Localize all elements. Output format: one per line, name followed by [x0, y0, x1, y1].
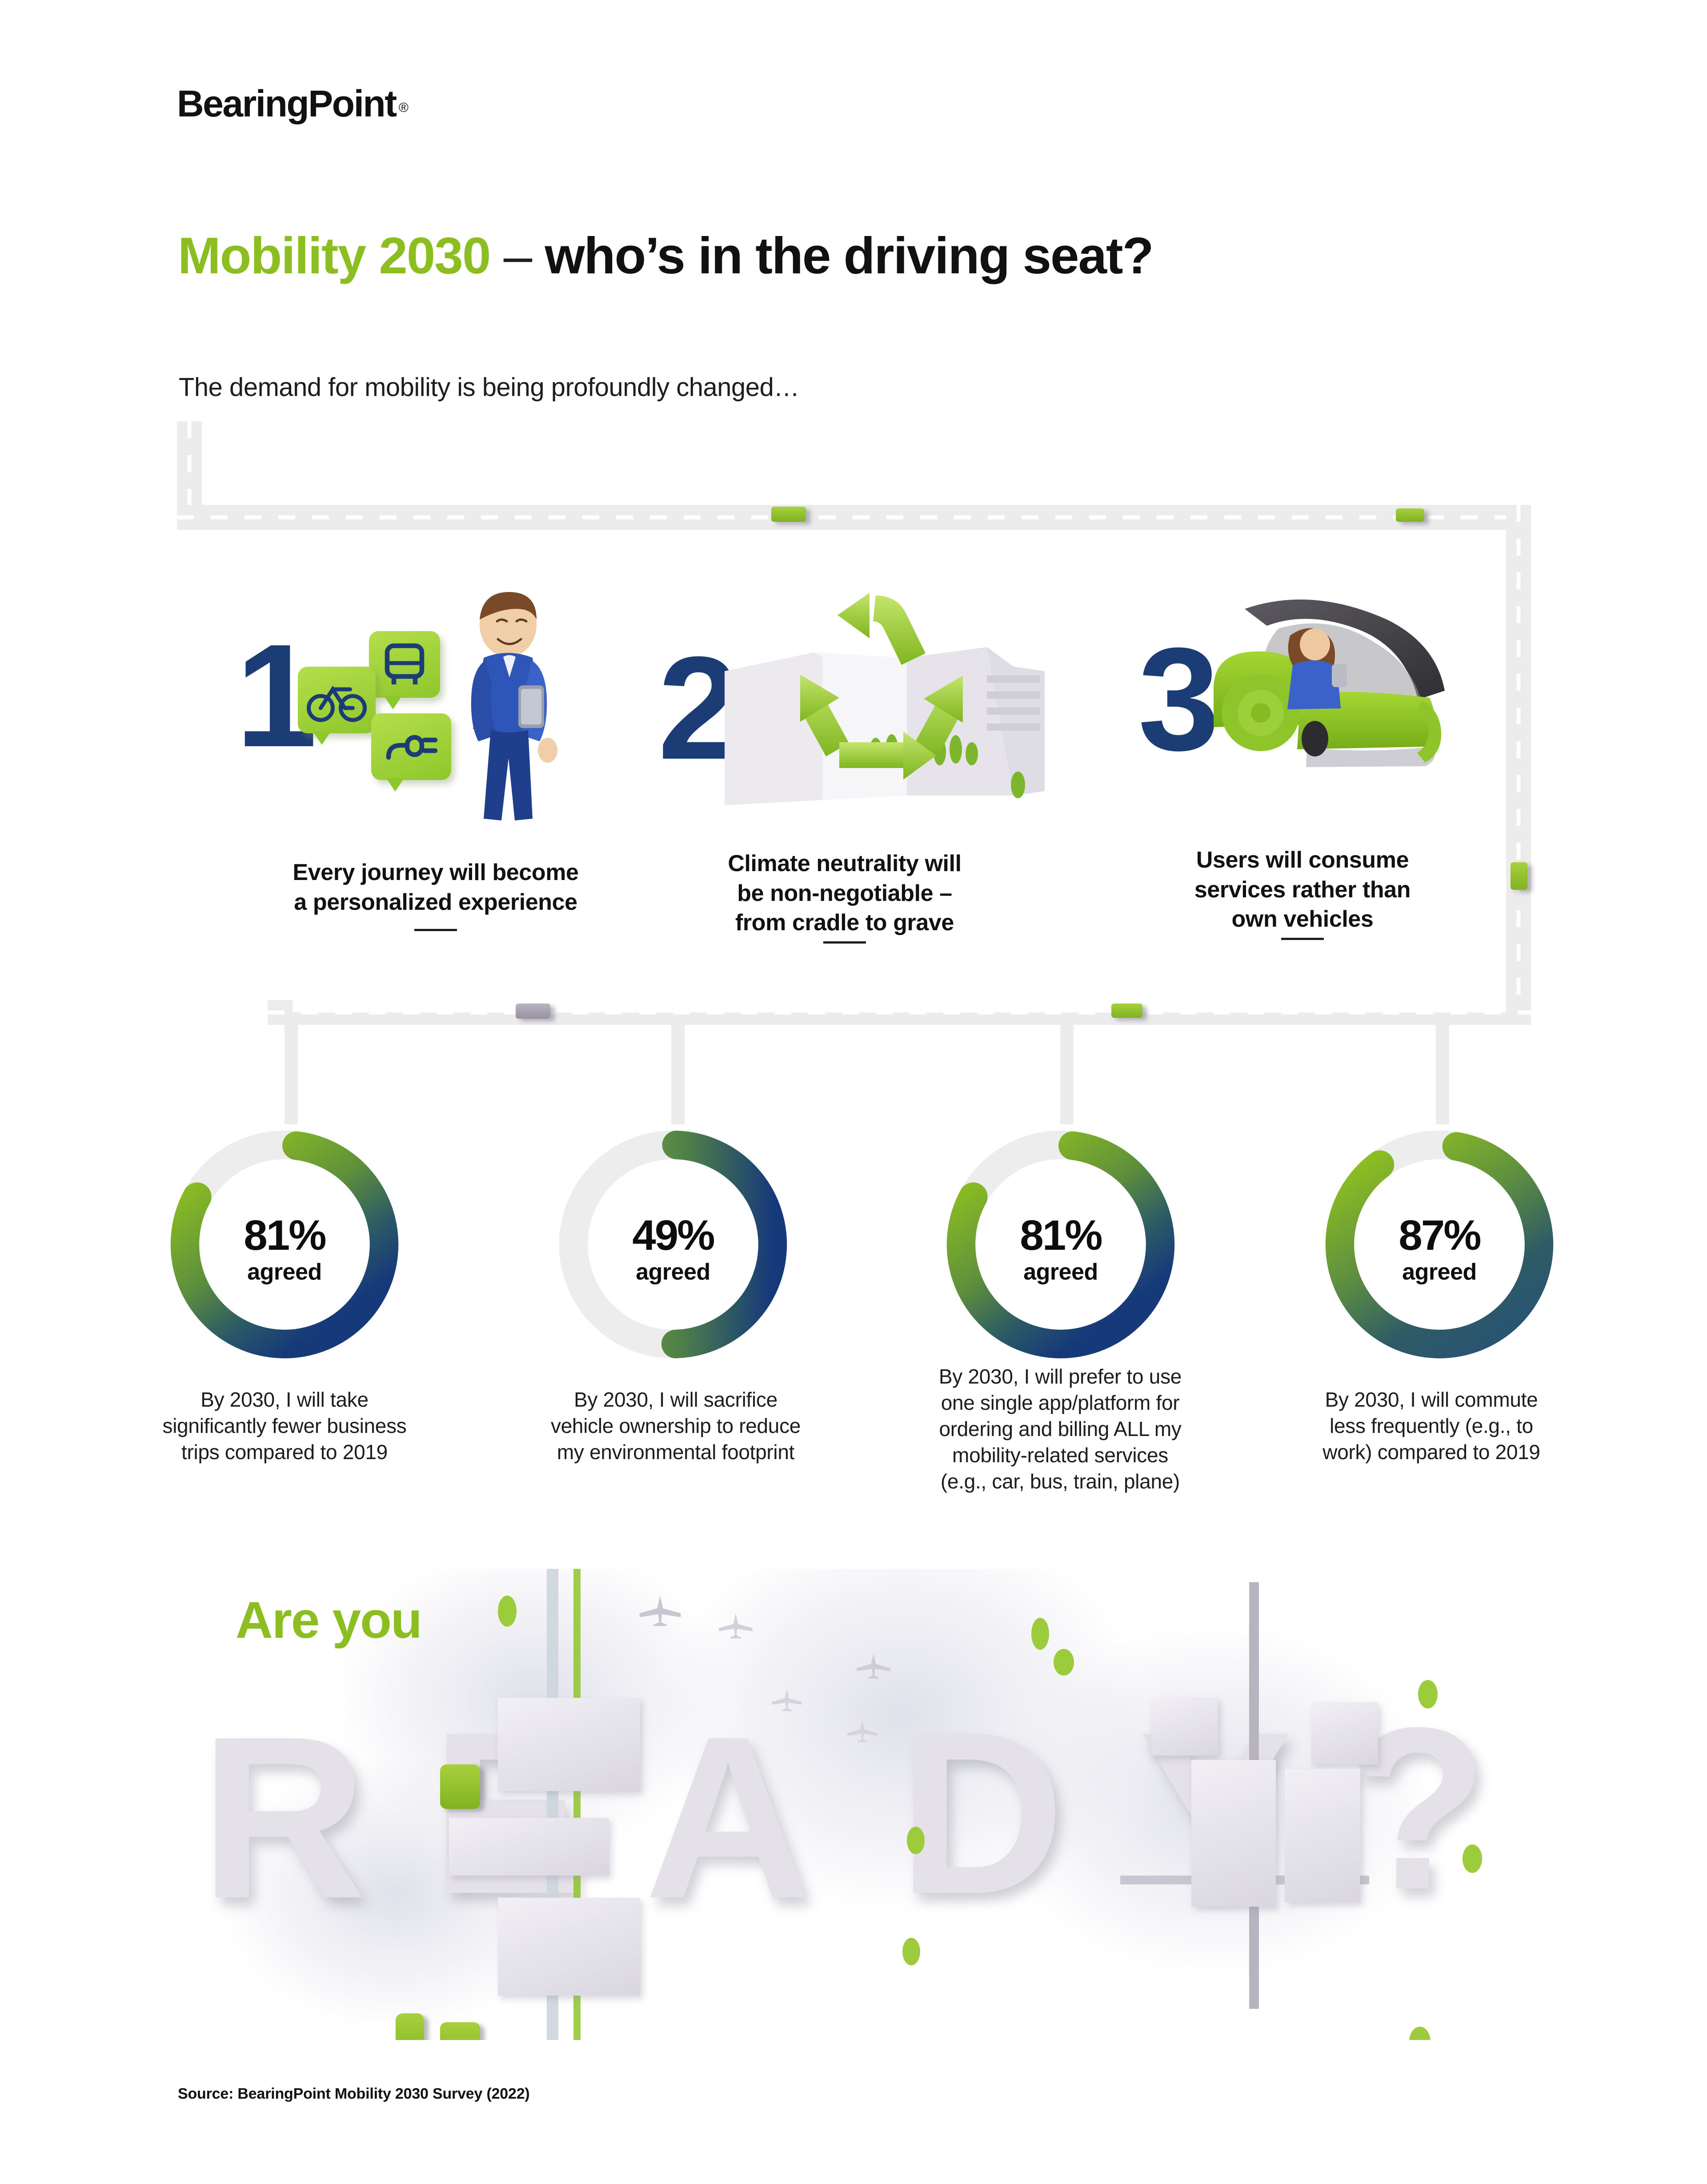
pillar-2-title: Climate neutrality will be non-negotiabl…: [645, 849, 1045, 938]
donut-1-percent: 81%: [160, 1214, 409, 1257]
donut-chart-2: 49% agreed: [549, 1120, 797, 1369]
donut-1-agreed-label: agreed: [160, 1260, 409, 1285]
pillar-2-rule: [823, 941, 866, 944]
donut-chart-4: 87% agreed: [1315, 1120, 1564, 1369]
connector-stem: [1060, 1022, 1074, 1124]
donut-4-caption: By 2030, I will commute less frequently …: [1267, 1387, 1596, 1465]
pillar-3-title: Users will consume services rather than …: [1102, 845, 1503, 934]
road-left-stub: [177, 421, 202, 506]
pod-vehicle-illustration: [1174, 582, 1485, 818]
source-note: Source: BearingPoint Mobility 2030 Surve…: [178, 2085, 530, 2103]
plane-icon: [769, 1684, 805, 1713]
road-dash-marking: [188, 421, 192, 506]
donut-chart-1: 81% agreed: [160, 1120, 409, 1369]
pillar-1-title: Every journey will become a personalized…: [222, 858, 649, 917]
businessman-illustration: [436, 587, 582, 836]
pillar-1-rule: [414, 929, 457, 931]
vehicle-icon: [1396, 508, 1424, 522]
ready-letter-A: A: [645, 1702, 812, 1933]
logo-wordmark: BearingPoint: [177, 83, 396, 124]
vehicle-icon: [1111, 1004, 1142, 1018]
vehicle-icon: [440, 2022, 480, 2040]
donut-chart-3: 81% agreed: [936, 1120, 1185, 1369]
vehicle-icon: [771, 507, 806, 522]
bearingpoint-logo: BearingPoint®: [177, 82, 409, 125]
plane-icon: [853, 1649, 894, 1680]
donut-3-caption: By 2030, I will prefer to use one single…: [885, 1364, 1236, 1494]
page-title: Mobility 2030 – who’s in the driving sea…: [178, 226, 1153, 285]
donut-3-agreed-label: agreed: [936, 1260, 1185, 1285]
donut-3-percent: 81%: [936, 1214, 1185, 1257]
bicycle-icon: [298, 667, 376, 733]
ready-letter-D: D: [898, 1698, 1065, 1929]
road-dash-marking: [1517, 505, 1521, 1025]
plane-icon: [716, 1609, 756, 1640]
are-you-label: Are you: [236, 1590, 421, 1650]
vehicle-icon: [396, 2013, 424, 2040]
connector-stem: [284, 1022, 298, 1124]
donut-4-agreed-label: agreed: [1315, 1260, 1564, 1285]
donut-2-percent: 49%: [549, 1214, 797, 1257]
donut-2-agreed-label: agreed: [549, 1260, 797, 1285]
vehicle-icon: [440, 1764, 480, 1809]
page-subtitle: The demand for mobility is being profoun…: [179, 372, 799, 402]
donut-1-caption: By 2030, I will take significantly fewer…: [120, 1387, 449, 1465]
registered-trademark-icon: ®: [399, 100, 409, 115]
ready-letter-R: R: [200, 1702, 367, 1933]
vehicle-icon: [1511, 862, 1527, 890]
road-opening-mask: [293, 1000, 1506, 1012]
plane-icon: [636, 1591, 685, 1627]
pillar-3-rule: [1281, 938, 1324, 940]
road-top-horizontal: [177, 505, 1531, 530]
donut-4-percent: 87%: [1315, 1214, 1564, 1257]
title-dash: –: [504, 227, 532, 284]
pillar-2: 2: [645, 578, 1045, 960]
connector-stem: [671, 1022, 685, 1124]
title-rest: who’s in the driving seat?: [545, 227, 1153, 284]
road-right-vertical: [1506, 505, 1531, 1025]
plane-icon: [845, 1716, 880, 1744]
infographic-page: BearingPoint® Mobility 2030 – who’s in t…: [0, 0, 1707, 2184]
bus-icon: [369, 631, 440, 698]
road-dash-marking: [177, 516, 1531, 520]
title-highlight: Mobility 2030: [178, 227, 490, 284]
vehicle-icon: [516, 1004, 550, 1019]
recycle-icon: [765, 587, 996, 796]
connector-stem: [1436, 1022, 1449, 1124]
donut-2-caption: By 2030, I will sacrifice vehicle owners…: [507, 1387, 845, 1465]
pillar-3: 3: [1102, 569, 1503, 960]
pillar-1: 1: [222, 578, 649, 960]
